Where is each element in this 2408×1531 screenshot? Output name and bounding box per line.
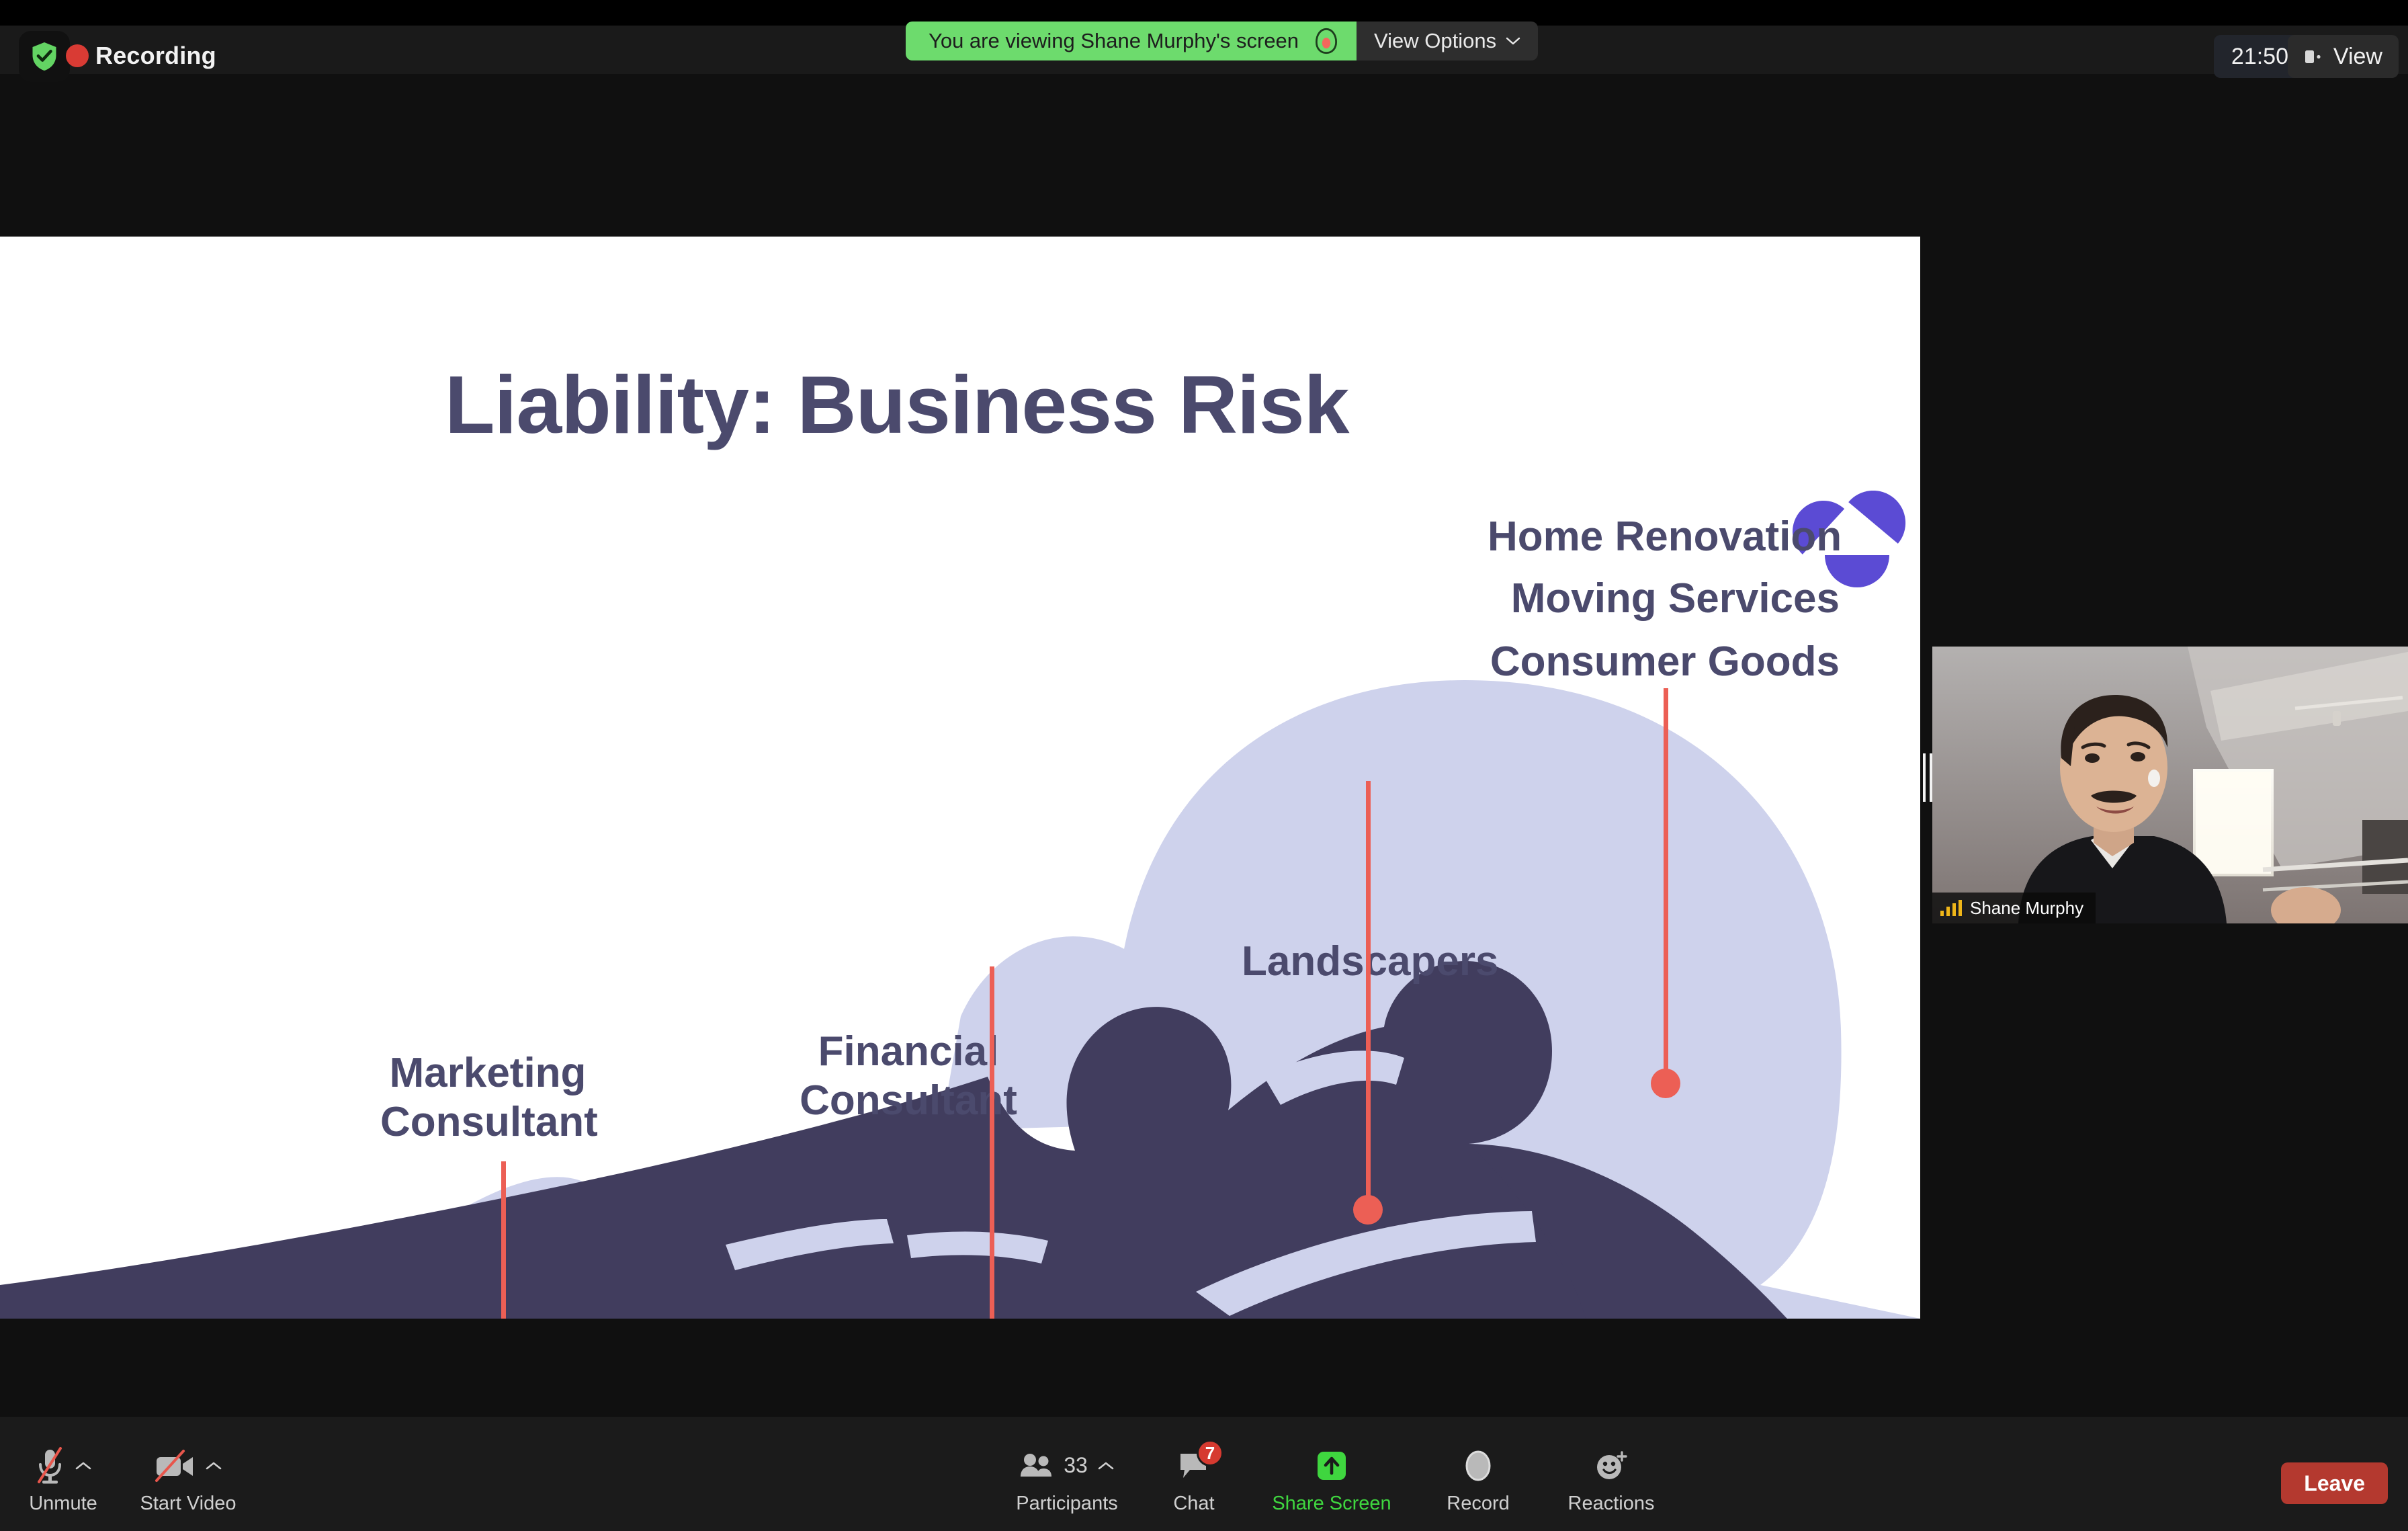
label-line: Home Renovation xyxy=(1488,512,1840,561)
start-video-label: Start Video xyxy=(140,1493,236,1515)
top-bar: Recording You are viewing Shane Murphy's… xyxy=(0,0,2408,74)
screen-share-banner: You are viewing Shane Murphy's screen Vi… xyxy=(906,22,1538,60)
chat-label: Chat xyxy=(1173,1493,1214,1515)
shield-check-icon xyxy=(30,41,58,72)
marker-stem xyxy=(501,1161,506,1319)
category-label-home-renovation: Home Renovation xyxy=(1488,512,1840,561)
share-screen-button[interactable]: Share Screen xyxy=(1251,1445,1412,1515)
start-video-button[interactable]: Start Video xyxy=(121,1445,255,1515)
chevron-down-icon xyxy=(1506,36,1520,46)
record-circle-icon xyxy=(1462,1449,1494,1483)
share-screen-label: Share Screen xyxy=(1272,1493,1391,1515)
risk-marker-consumer-goods[interactable] xyxy=(1651,688,1680,1098)
marker-dot xyxy=(1651,1069,1680,1098)
risk-marker-financial-consultant[interactable] xyxy=(977,966,1006,1319)
layout-view-icon xyxy=(2304,46,2324,67)
reactions-label: Reactions xyxy=(1568,1493,1655,1515)
marker-stem xyxy=(1366,781,1371,1210)
zoom-meeting-window: Recording You are viewing Shane Murphy's… xyxy=(0,0,2408,1531)
reactions-smiley-icon xyxy=(1594,1450,1629,1482)
leave-label: Leave xyxy=(2304,1471,2365,1496)
unmute-button[interactable]: Unmute xyxy=(9,1445,117,1515)
label-line: Consumer Goods xyxy=(1488,637,1840,686)
risk-marker-marketing-consultant[interactable] xyxy=(488,1161,518,1319)
record-label: Record xyxy=(1447,1493,1510,1515)
participants-button[interactable]: 33 Participants xyxy=(993,1445,1141,1515)
share-screen-icon xyxy=(1314,1449,1349,1483)
reactions-button[interactable]: Reactions xyxy=(1544,1445,1678,1515)
signal-bars-icon xyxy=(1940,900,1962,916)
record-dot-icon xyxy=(66,44,89,67)
category-label-consumer-goods: Consumer Goods xyxy=(1488,637,1840,686)
chevron-up-icon[interactable] xyxy=(75,1460,92,1471)
participant-name-text: Shane Murphy xyxy=(1970,898,2083,919)
view-options-button[interactable]: View Options xyxy=(1357,22,1538,60)
share-banner-text: You are viewing Shane Murphy's screen xyxy=(929,29,1299,53)
participant-video-frame xyxy=(1932,647,2408,923)
participant-name-label: Shane Murphy xyxy=(1932,893,2096,923)
label-line: Consultant xyxy=(380,1098,595,1147)
drag-handle-icon[interactable] xyxy=(1923,751,1932,804)
participants-icon xyxy=(1019,1452,1054,1479)
view-label: View xyxy=(2333,44,2382,70)
chevron-up-icon[interactable] xyxy=(1097,1460,1115,1471)
view-layout-button[interactable]: View xyxy=(2288,35,2399,78)
marker-dot xyxy=(1353,1195,1383,1225)
view-options-label: View Options xyxy=(1374,29,1496,53)
security-button[interactable] xyxy=(19,31,70,82)
chevron-up-icon[interactable] xyxy=(205,1460,222,1471)
participants-count: 33 xyxy=(1064,1453,1088,1478)
shared-screen-slide[interactable]: Liability: Business Risk Marketing Consu… xyxy=(0,237,1920,1319)
handle-line xyxy=(1923,753,1926,802)
participants-label: Participants xyxy=(1016,1493,1118,1515)
meeting-timer-value: 21:50 xyxy=(2231,44,2288,70)
record-button[interactable]: Record xyxy=(1424,1445,1532,1515)
meeting-toolbar: Unmute Start Video xyxy=(0,1417,2408,1531)
unmute-label: Unmute xyxy=(29,1493,97,1515)
label-line: Marketing xyxy=(380,1048,595,1098)
chat-button[interactable]: 7 Chat xyxy=(1150,1445,1238,1515)
category-label-marketing-consultant: Marketing Consultant xyxy=(380,1048,595,1147)
category-label-moving-services: Moving Services xyxy=(1488,574,1840,623)
risk-marker-landscapers[interactable] xyxy=(1353,781,1383,1225)
leave-button[interactable]: Leave xyxy=(2281,1462,2388,1504)
share-banner-green: You are viewing Shane Murphy's screen xyxy=(906,22,1357,60)
participant-video-tile[interactable]: Shane Murphy xyxy=(1932,647,2408,923)
avocado-icon xyxy=(1314,28,1339,54)
camera-off-icon xyxy=(154,1449,196,1483)
chat-unread-badge: 7 xyxy=(1197,1440,1223,1466)
marker-stem xyxy=(1664,688,1668,1083)
label-line: Moving Services xyxy=(1488,574,1840,623)
recording-label: Recording xyxy=(95,42,216,70)
microphone-muted-icon xyxy=(34,1447,65,1485)
page-title: Liability: Business Risk xyxy=(445,362,1587,448)
marker-stem xyxy=(990,966,994,1319)
